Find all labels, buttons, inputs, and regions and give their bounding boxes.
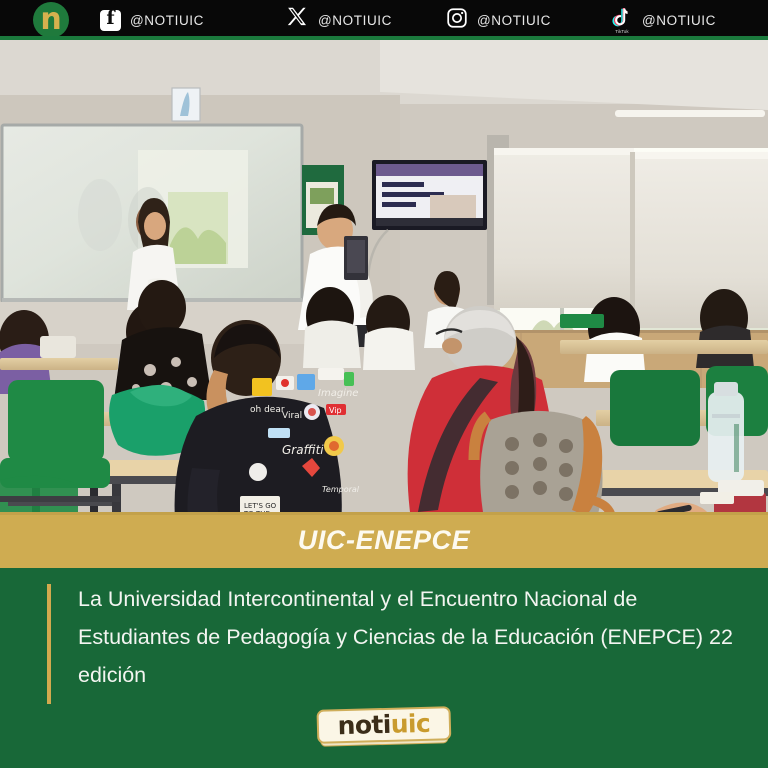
notiuic-wordmark-logo[interactable]: notiuic <box>316 706 451 750</box>
social-link-x[interactable]: @NOTIUIC <box>286 0 392 40</box>
svg-text:Vip: Vip <box>329 406 342 415</box>
svg-text:Viral: Viral <box>282 411 302 421</box>
banner-title: UIC-ENEPCE <box>298 525 471 556</box>
facebook-icon[interactable] <box>100 10 121 31</box>
event-banner: UIC-ENEPCE <box>0 512 768 568</box>
svg-text:Graffiti: Graffiti <box>282 443 324 457</box>
banner-top-edge <box>0 512 768 515</box>
tiktok-icon[interactable]: TikTok <box>611 7 633 33</box>
event-photo: oh dear Viral Vip Imagine Graffiti LET'S… <box>0 40 768 512</box>
social-link-tiktok[interactable]: TikTok @NOTIUIC <box>611 0 716 40</box>
instagram-handle: @NOTIUIC <box>477 13 551 28</box>
x-handle: @NOTIUIC <box>318 13 392 28</box>
instagram-icon[interactable] <box>446 7 468 34</box>
svg-text:LET'S GO: LET'S GO <box>244 502 277 510</box>
tiktok-icon-caption: TikTok <box>609 29 635 34</box>
facebook-handle: @NOTIUIC <box>130 13 204 28</box>
description-text: La Universidad Intercontinental y el Enc… <box>78 580 733 694</box>
tiktok-handle: @NOTIUIC <box>642 13 716 28</box>
notiuic-logo-icon[interactable]: n <box>33 2 69 38</box>
description-section: La Universidad Intercontinental y el Enc… <box>0 568 768 764</box>
header-bar: n @NOTIUIC @NOTIUIC <box>0 0 768 40</box>
logo-letter: n <box>33 2 69 38</box>
social-media-card: n @NOTIUIC @NOTIUIC <box>0 0 768 768</box>
wordmark-part-uic: uic <box>390 709 430 739</box>
x-icon[interactable] <box>286 6 309 34</box>
svg-text:Temporal: Temporal <box>322 485 360 494</box>
svg-text:oh dear: oh dear <box>250 405 285 415</box>
wordmark-part-noti: noti <box>337 710 391 740</box>
svg-text:Imagine: Imagine <box>318 388 358 399</box>
social-link-facebook[interactable]: @NOTIUIC <box>100 0 204 40</box>
social-link-instagram[interactable]: @NOTIUIC <box>446 0 551 40</box>
wordmark-text: notiuic <box>316 706 451 744</box>
accent-bar <box>47 584 51 704</box>
